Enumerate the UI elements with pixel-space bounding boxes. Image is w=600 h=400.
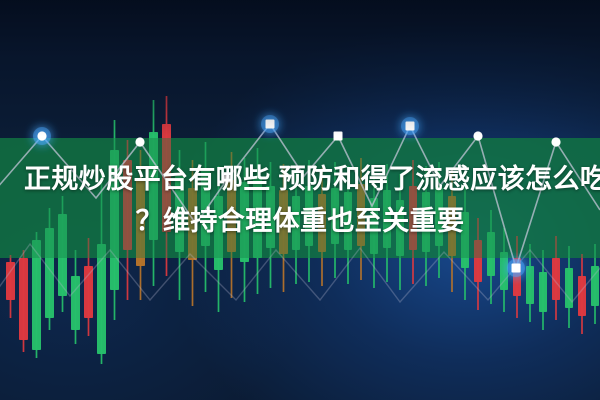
article-banner-image: 正规炒股平台有哪些 预防和得了流感应该怎么吃 ？维持合理体重也至关重要 xyxy=(0,0,600,400)
top-vignette xyxy=(0,0,600,400)
